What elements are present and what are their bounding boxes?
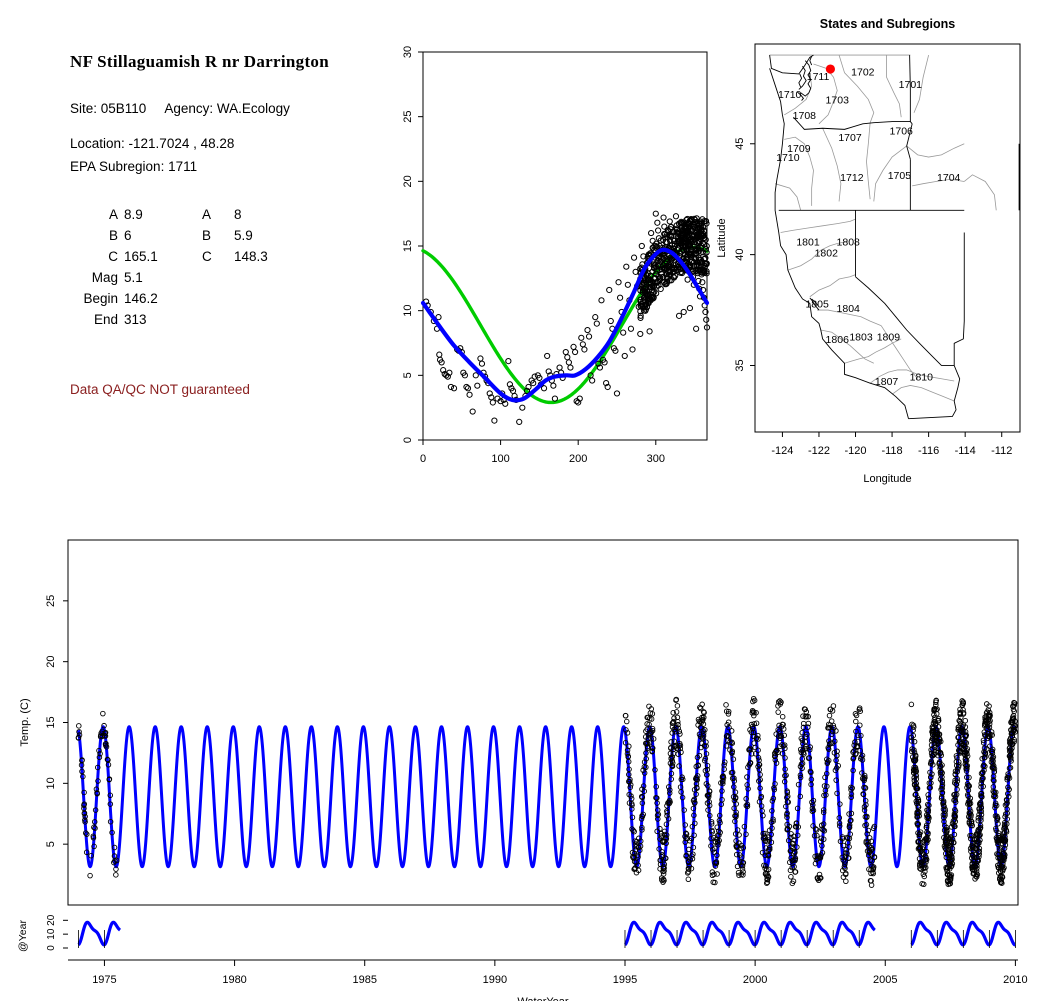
subregion-label: 1706 — [890, 125, 914, 137]
data-point — [572, 349, 577, 354]
data-point — [590, 378, 595, 383]
year-count-curve-1 — [625, 922, 875, 944]
y-tick-label: 20 — [45, 656, 57, 668]
count-tick-label: 0 — [46, 945, 57, 951]
data-point — [625, 282, 630, 287]
lon-tick-label: -124 — [771, 445, 793, 457]
data-point — [623, 713, 628, 718]
data-point — [631, 255, 636, 260]
subregion-label: 1710 — [776, 152, 800, 164]
x-tick-label: 300 — [647, 453, 665, 465]
data-point — [437, 352, 442, 357]
y-tick-label: 15 — [402, 240, 414, 252]
x-tick-label: 2000 — [743, 974, 767, 986]
year-strip-label: @Year — [17, 920, 29, 952]
boundary-line-13 — [964, 175, 996, 210]
boundary-line-7 — [775, 184, 801, 211]
stat-key: A — [70, 204, 124, 225]
data-point — [541, 386, 546, 391]
map-ylabel: Latitude — [716, 218, 728, 257]
data-point — [685, 277, 690, 282]
boundary-line-16 — [810, 275, 856, 297]
observed-points — [424, 211, 710, 424]
y-tick-label: 10 — [45, 777, 57, 789]
table-row: Mag 5.1 — [70, 267, 312, 288]
data-point — [630, 347, 635, 352]
lat-tick-label: 40 — [734, 249, 746, 261]
data-point — [465, 386, 470, 391]
lon-tick-label: -120 — [845, 445, 867, 457]
data-point — [621, 330, 626, 335]
stat-key-right: C — [202, 246, 234, 267]
lon-tick-label: -118 — [881, 445, 902, 457]
data-point — [650, 238, 655, 243]
stat-value: 165.1 — [124, 246, 202, 267]
data-point — [467, 392, 472, 397]
stat-key-right: B — [202, 225, 234, 246]
data-point — [789, 874, 794, 879]
data-point — [76, 724, 81, 729]
stat-value-right: 8 — [234, 204, 312, 225]
data-point — [545, 353, 550, 358]
map-xlabel: Longitude — [863, 473, 911, 485]
subregion-label: 1803 — [849, 332, 873, 344]
stat-value-right: 148.3 — [234, 246, 312, 267]
location-line: Location: -121.7024 , 48.28 — [70, 132, 390, 155]
lon-tick-label: -114 — [955, 445, 976, 457]
data-point — [909, 702, 914, 707]
x-tick-label: 0 — [420, 453, 426, 465]
data-point — [608, 318, 613, 323]
subregion-label: 1810 — [910, 372, 934, 384]
subregion-label: 1711 — [807, 71, 830, 83]
map-title: States and Subregions — [820, 17, 955, 31]
data-point — [616, 280, 621, 285]
subregion-label: 1712 — [840, 172, 864, 184]
subregion-label: 1701 — [899, 79, 923, 91]
data-point — [551, 383, 556, 388]
fit-parameters-table: A 8.9 A 8 B 6 B 5.9 C 165.1 C 148.3 Mag … — [70, 204, 390, 330]
subregion-label: 1705 — [888, 170, 912, 182]
data-point — [681, 309, 686, 314]
data-point — [552, 396, 557, 401]
y-tick-label: 25 — [402, 111, 414, 123]
stat-value: 6 — [124, 225, 202, 246]
year-count-curve-0 — [78, 922, 120, 944]
stats-table: A 8.9 A 8 B 6 B 5.9 C 165.1 C 148.3 Mag … — [70, 204, 312, 330]
data-point — [470, 409, 475, 414]
site-info-panel: NF Stillaguamish R nr Darrington Site: 0… — [70, 52, 390, 397]
boundary-line-11 — [907, 144, 965, 157]
data-point — [451, 386, 456, 391]
page-title: NF Stillaguamish R nr Darrington — [70, 52, 390, 71]
stat-value: 8.9 — [124, 204, 202, 225]
data-point — [963, 718, 968, 723]
stat-value: 146.2 — [124, 288, 202, 309]
data-point — [639, 243, 644, 248]
data-point — [557, 365, 562, 370]
region-map-panel: States and Subregions1711170217011703171… — [720, 12, 1038, 492]
subregion-label: 1702 — [851, 67, 875, 79]
subregion-label: 1806 — [826, 334, 850, 346]
data-point — [599, 298, 604, 303]
data-point — [704, 317, 709, 322]
site-marker — [826, 64, 835, 73]
y-tick-label: 20 — [402, 175, 414, 187]
x-tick-label: 2005 — [873, 974, 897, 986]
data-point — [565, 355, 570, 360]
x-tick-label: 1985 — [352, 974, 376, 986]
data-point — [667, 219, 672, 224]
subregion-label: 1704 — [937, 172, 961, 184]
table-row: Begin 146.2 — [70, 288, 312, 309]
data-point — [638, 331, 643, 336]
x-tick-label: 2010 — [1003, 974, 1027, 986]
data-point — [694, 326, 699, 331]
table-row: End 313 — [70, 309, 312, 330]
lon-tick-label: -116 — [918, 445, 939, 457]
subregion-line: EPA Subregion: 1711 — [70, 155, 390, 178]
data-point — [649, 230, 654, 235]
data-point — [586, 334, 591, 339]
data-point — [580, 342, 585, 347]
subregion-label: 1710 — [778, 89, 802, 101]
count-tick-label: 20 — [46, 914, 57, 926]
data-point — [776, 710, 781, 715]
data-point — [506, 359, 511, 364]
stat-key: Mag — [70, 267, 124, 288]
map-frame — [755, 44, 1020, 432]
subregion-label: 1703 — [826, 94, 850, 106]
ts-ylabel: Temp. (C) — [19, 698, 31, 746]
subregion-label: 1809 — [877, 332, 901, 344]
data-point — [628, 326, 633, 331]
data-point — [566, 360, 571, 365]
table-row: B 6 B 5.9 — [70, 225, 312, 246]
data-point — [473, 373, 478, 378]
data-point — [490, 400, 495, 405]
stat-key: B — [70, 225, 124, 246]
data-point — [448, 384, 453, 389]
seasonal-scatter-panel: 0510152025300100200300 — [385, 40, 715, 480]
data-point — [687, 305, 692, 310]
subregion-boundaries — [770, 55, 997, 401]
data-point — [475, 383, 480, 388]
site-agency-line: Site: 05B110 Agency: WA.Ecology — [70, 97, 390, 120]
data-point — [479, 361, 484, 366]
data-point — [571, 344, 576, 349]
subregion-label: 1807 — [875, 376, 899, 388]
count-tick-label: 10 — [46, 928, 57, 940]
stat-key: End — [70, 309, 124, 330]
data-point — [517, 419, 522, 424]
data-point — [492, 418, 497, 423]
data-point — [780, 714, 785, 719]
data-point — [656, 228, 661, 233]
x-tick-label: 1995 — [613, 974, 637, 986]
subregion-label: 1808 — [837, 236, 861, 248]
y-tick-label: 0 — [402, 437, 414, 443]
data-point — [675, 704, 680, 709]
data-point — [614, 391, 619, 396]
qaqc-warning: Data QA/QC NOT guaranteed — [70, 382, 390, 397]
stat-key: Begin — [70, 288, 124, 309]
subregion-label: 1802 — [815, 247, 839, 259]
table-row: C 165.1 C 148.3 — [70, 246, 312, 267]
data-point — [593, 315, 598, 320]
boundary-line-2 — [839, 55, 874, 123]
y-tick-label: 10 — [402, 305, 414, 317]
data-point — [478, 356, 483, 361]
data-point — [686, 877, 691, 882]
timeseries-panel: 510152025Temp. (C)1975198019851990199520… — [0, 520, 1038, 1001]
data-point — [653, 211, 658, 216]
data-point — [647, 329, 652, 334]
data-point — [624, 719, 629, 724]
y-tick-label: 25 — [45, 595, 57, 607]
y-tick-label: 5 — [45, 841, 57, 847]
subregion-label: 1707 — [838, 132, 862, 144]
lat-tick-label: 35 — [734, 359, 746, 371]
subregion-labels: 1711170217011703171017081706170717091710… — [776, 67, 960, 388]
data-point — [715, 872, 720, 877]
stat-key-right: A — [202, 204, 234, 225]
lon-tick-label: -112 — [991, 445, 1012, 457]
timeseries-frame — [68, 540, 1018, 905]
data-point — [594, 321, 599, 326]
data-point — [673, 214, 678, 219]
data-point — [622, 353, 627, 358]
boundary-line-9 — [866, 123, 870, 199]
data-point — [607, 287, 612, 292]
data-point — [88, 873, 93, 878]
data-point — [624, 264, 629, 269]
lon-tick-label: -122 — [808, 445, 830, 457]
x-tick-label: 1990 — [483, 974, 507, 986]
data-point — [582, 347, 587, 352]
boundary-line-14 — [781, 219, 856, 232]
stat-value: 313 — [124, 309, 202, 330]
data-point — [724, 703, 729, 708]
data-point — [114, 873, 119, 878]
data-point — [661, 215, 666, 220]
stat-value-right: 5.9 — [234, 225, 312, 246]
stat-value: 5.1 — [124, 267, 202, 288]
y-tick-label: 30 — [402, 46, 414, 58]
y-tick-label: 15 — [45, 716, 57, 728]
ts-xlabel: WaterYear — [517, 996, 568, 1001]
x-tick-label: 1980 — [222, 974, 246, 986]
data-point — [853, 719, 858, 724]
subregion-label: 1805 — [805, 298, 829, 310]
data-point — [520, 405, 525, 410]
subregion-label: 1804 — [837, 303, 861, 315]
subregion-label: 1708 — [793, 110, 817, 122]
y-tick-label: 5 — [402, 372, 414, 378]
table-row: A 8.9 A 8 — [70, 204, 312, 225]
data-point — [101, 711, 106, 716]
x-tick-label: 1975 — [92, 974, 116, 986]
data-point — [563, 349, 568, 354]
southeast-border — [909, 232, 965, 418]
x-tick-label: 200 — [569, 453, 587, 465]
predicted-temperature-curve — [78, 727, 1015, 867]
data-point — [617, 295, 622, 300]
x-tick-label: 100 — [491, 453, 509, 465]
data-point — [827, 713, 832, 718]
data-point — [579, 335, 584, 340]
data-point — [676, 313, 681, 318]
stat-key: C — [70, 246, 124, 267]
data-point — [655, 220, 660, 225]
lat-tick-label: 45 — [734, 138, 746, 150]
data-point — [710, 873, 715, 878]
puget-sound-detail-2 — [799, 74, 802, 87]
data-point — [464, 384, 469, 389]
boundary-line-22 — [892, 385, 954, 401]
data-point — [585, 327, 590, 332]
data-point — [568, 365, 573, 370]
